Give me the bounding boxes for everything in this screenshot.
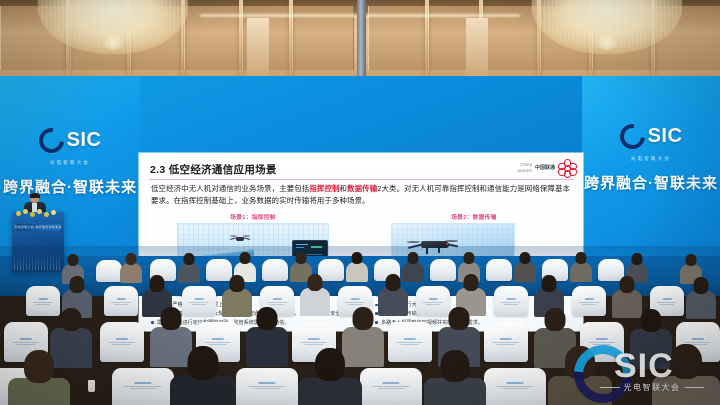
led-video-wall: SIC 光电智联大会 跨界融合·智联未来 SIC 光电智联大会 跨界融合·智联未…	[0, 76, 720, 256]
chair	[484, 322, 528, 362]
slide-paragraph: 低空经济中无人机对通信的业务场景，主要包括指挥控制和数据传输2大类。对无人机可靠…	[151, 183, 571, 207]
chair	[262, 259, 288, 281]
podium-branding: 光电智联大会·跨界融合智联未来	[12, 225, 64, 229]
sic-wordmark: SIC	[67, 129, 102, 152]
chair	[484, 368, 546, 405]
audience-member	[246, 307, 288, 363]
audience-member	[514, 252, 536, 280]
sic-wordmark: SIC	[648, 125, 683, 148]
sic-logo-right: SIC 光电智联大会	[582, 124, 720, 162]
para-highlight2: 数据传输	[347, 184, 377, 193]
audience-member	[346, 252, 368, 280]
audience-member	[686, 277, 716, 317]
drone-icon	[230, 234, 250, 243]
audience-member	[424, 350, 486, 405]
watermark-rule-left	[600, 387, 620, 388]
sic-ring-icon	[34, 123, 69, 158]
watermark-sublabel: 光电智联大会	[624, 382, 681, 393]
audience-member	[298, 348, 362, 405]
chair	[112, 368, 174, 405]
scene-2-label: 场景2：数据传输	[379, 213, 569, 221]
scene-1-label: 场景1：指挥控制	[153, 213, 353, 221]
ceiling-wall	[0, 0, 720, 76]
title-divider	[149, 179, 573, 180]
podium-flowers	[14, 208, 60, 218]
unicom-flower-icon	[558, 159, 575, 176]
unicom-line2: unicom	[517, 168, 532, 174]
watermark-logo: SIC 光电智联大会	[574, 341, 710, 397]
chair	[430, 259, 456, 281]
china-unicom-logo: China unicom 中国联通	[517, 159, 575, 176]
chair	[360, 368, 422, 405]
chair	[104, 286, 138, 316]
sic-sublabel: 光电智联大会	[582, 156, 720, 162]
chair	[486, 259, 512, 281]
chair	[100, 322, 144, 362]
water-cup	[88, 380, 95, 392]
chair	[572, 286, 606, 316]
conference-photo: SIC 光电智联大会 跨界融合·智联未来 SIC 光电智联大会 跨界融合·智联未…	[0, 0, 720, 405]
audience-member	[170, 346, 236, 405]
sic-ring-icon	[615, 119, 650, 154]
watermark-rule-right	[685, 387, 705, 388]
para-part2: 和	[340, 184, 348, 193]
sic-logo-left: SIC 光电智联大会	[0, 128, 140, 166]
chair	[494, 286, 528, 316]
unicom-line1: China	[517, 162, 532, 168]
audience-member	[178, 253, 200, 281]
audience-member	[8, 350, 70, 405]
para-highlight1: 指挥控制	[309, 184, 339, 193]
para-part1: 低空经济中无人机对通信的业务场景，主要包括	[151, 184, 309, 193]
led-panel-right: SIC 光电智联大会 跨界融合·智联未来	[582, 76, 720, 256]
unicom-chinese: 中国联通	[535, 164, 555, 171]
slide-title: 2.3 低空经济通信应用场景	[150, 162, 277, 177]
slogan-right: 跨界融合·智联未来	[584, 175, 718, 192]
audience-member	[570, 252, 592, 280]
watermark-wordmark: SIC	[614, 347, 674, 386]
sic-sublabel: 光电智联大会	[0, 160, 140, 166]
audience-member	[300, 274, 330, 314]
structural-column	[357, 0, 366, 76]
audience-member	[120, 253, 142, 281]
chair	[236, 368, 298, 405]
chair	[96, 260, 122, 282]
